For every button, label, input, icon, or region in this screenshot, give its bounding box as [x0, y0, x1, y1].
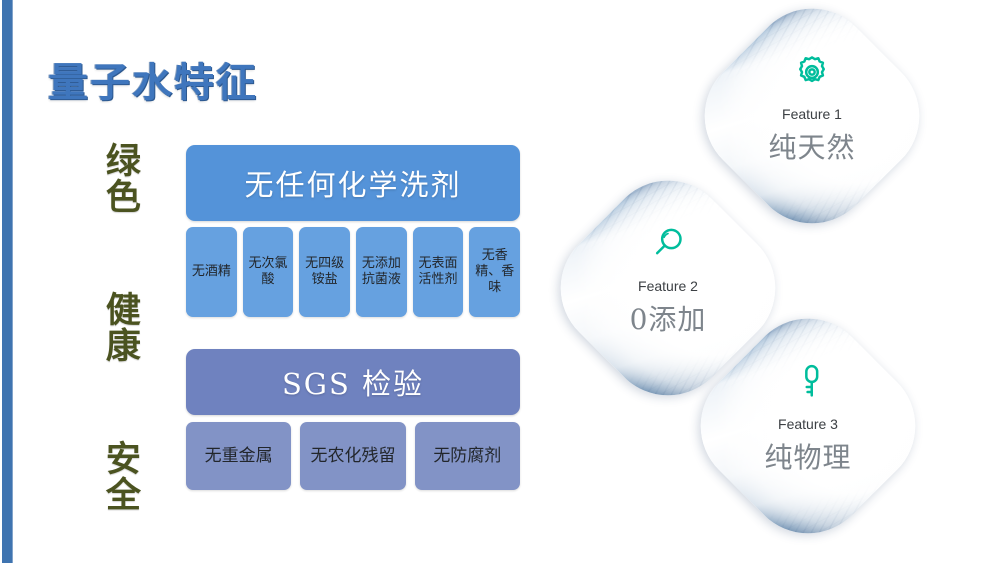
page-title: 量子水特征 [48, 50, 258, 108]
bottom-chip-row: 无重金属 无农化残留 无防腐剂 [186, 422, 520, 490]
feature-title: 纯天然 [768, 126, 855, 166]
feature-title: 纯物理 [764, 436, 851, 476]
chip-item: 无次氯酸 [243, 227, 294, 317]
feature-eyebrow: Feature 2 [638, 278, 698, 294]
headline-box: 无任何化学洗剂 [186, 145, 520, 221]
chip-item: 无防腐剂 [415, 422, 520, 490]
chip-item: 无添加抗菌液 [356, 227, 407, 317]
sgs-box: SGS 检验 [186, 349, 520, 415]
small-chip-row: 无酒精 无次氯酸 无四级铵盐 无添加抗菌液 无表面活性剂 无香精、香味 [186, 227, 520, 317]
slide-canvas: 量子水特征 绿色 健康 安全 无任何化学洗剂 无酒精 无次氯酸 无四级铵盐 无添… [0, 0, 1000, 563]
chip-item: 无农化残留 [300, 422, 405, 490]
keyword-column: 绿色 健康 安全 [88, 142, 150, 512]
feature-eyebrow: Feature 3 [778, 416, 838, 432]
gear-icon [792, 52, 832, 92]
magnifier-icon [648, 224, 688, 264]
chip-item: 无重金属 [186, 422, 291, 490]
keyword-item: 健康 [100, 291, 138, 363]
feature-stack: 无任何化学洗剂 无酒精 无次氯酸 无四级铵盐 无添加抗菌液 无表面活性剂 无香精… [186, 145, 520, 490]
feature-title: 0添加 [630, 298, 707, 338]
chip-item: 无四级铵盐 [299, 227, 350, 317]
keyword-item: 安全 [100, 440, 138, 512]
left-accent-bar [2, 0, 13, 563]
keyword-item: 绿色 [100, 142, 138, 214]
feature-eyebrow: Feature 1 [782, 106, 842, 122]
key-icon [788, 362, 828, 402]
chip-item: 无表面活性剂 [413, 227, 464, 317]
feature-card-1: Feature 1 纯天然 [718, 22, 906, 210]
feature-card-3: Feature 3 纯物理 [714, 332, 902, 520]
chip-item: 无香精、香味 [469, 227, 520, 317]
chip-item: 无酒精 [186, 227, 237, 317]
